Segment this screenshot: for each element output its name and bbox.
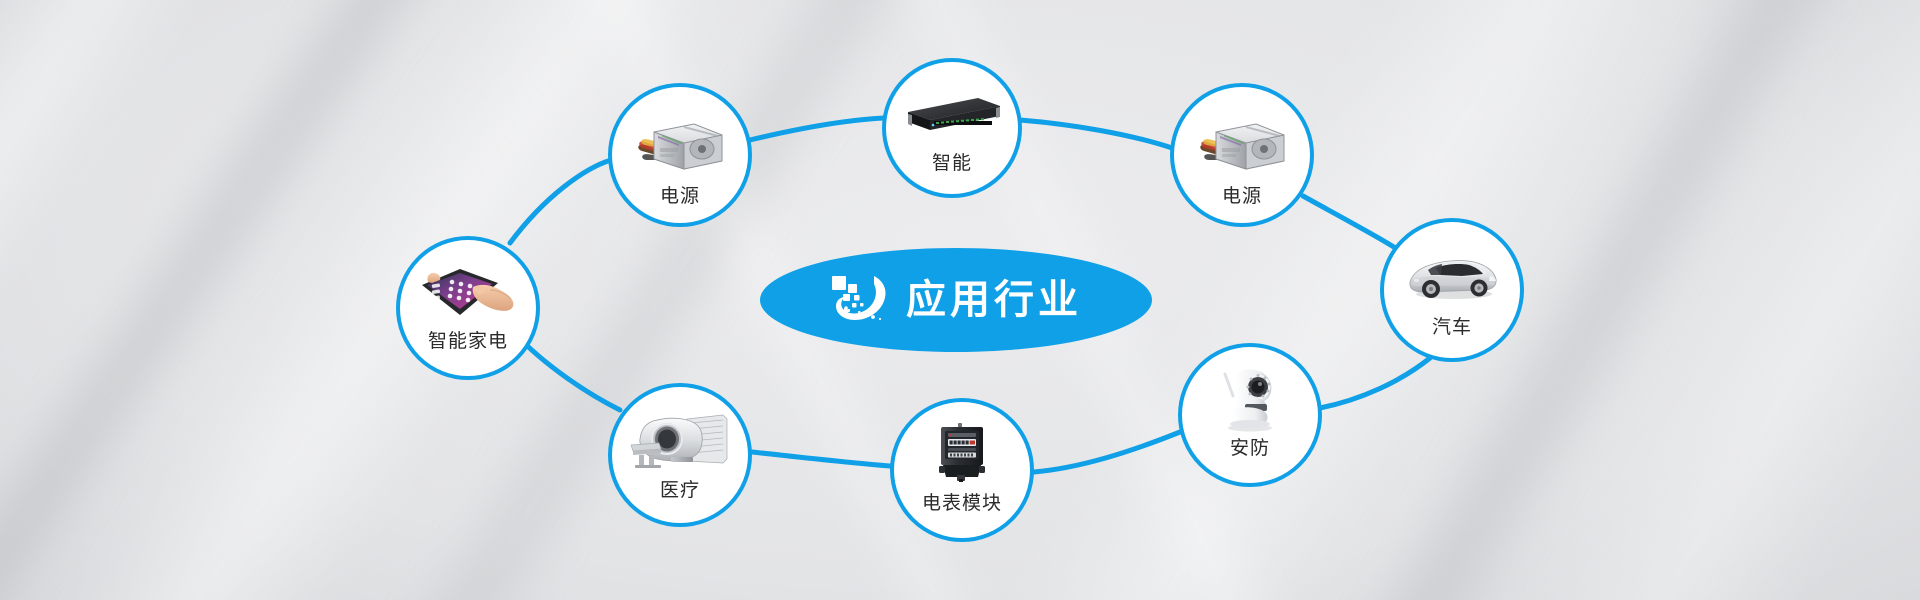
connector-powerleft-smart: [750, 118, 884, 140]
center-badge[interactable]: 应用行业: [760, 248, 1152, 352]
power-supply-icon: [612, 113, 748, 175]
power-supply-icon: [1174, 113, 1310, 175]
node-label: 智能: [932, 154, 972, 173]
node-power-right[interactable]: 电源: [1170, 83, 1314, 227]
node-label: 智能家电: [428, 332, 508, 351]
sports-car-icon: [1384, 246, 1520, 304]
connector-auto-security: [1320, 358, 1430, 408]
node-automotive[interactable]: 汽车: [1380, 218, 1524, 362]
node-label: 电表模块: [922, 494, 1002, 513]
orbit-pixel-logo: [830, 272, 892, 328]
node-label: 电源: [1222, 187, 1262, 206]
application-industries-diagram: 电源: [0, 0, 1920, 600]
tablet-hand-icon: [400, 262, 536, 324]
connector-meter-medical: [752, 452, 890, 466]
connector-security-meter: [1034, 432, 1180, 472]
node-smart[interactable]: 智能: [882, 58, 1022, 198]
connector-smart-powerright: [1020, 120, 1172, 148]
node-smart-home[interactable]: 智能家电: [396, 236, 540, 380]
connector-smarthome-powerleft: [510, 160, 611, 243]
node-label: 安防: [1230, 439, 1270, 458]
mri-scanner-icon: [612, 411, 748, 471]
node-power-left[interactable]: 电源: [608, 83, 752, 227]
node-label: 医疗: [660, 481, 700, 500]
ip-camera-icon: [1182, 367, 1318, 433]
center-badge-label: 应用行业: [906, 280, 1082, 320]
electric-meter-icon: [894, 422, 1030, 484]
node-meter-module[interactable]: 电表模块: [890, 398, 1034, 542]
node-security[interactable]: 安防: [1178, 343, 1322, 487]
node-label: 电源: [660, 187, 700, 206]
node-medical[interactable]: 医疗: [608, 383, 752, 527]
rack-server-icon: [886, 90, 1018, 138]
node-label: 汽车: [1432, 318, 1472, 337]
